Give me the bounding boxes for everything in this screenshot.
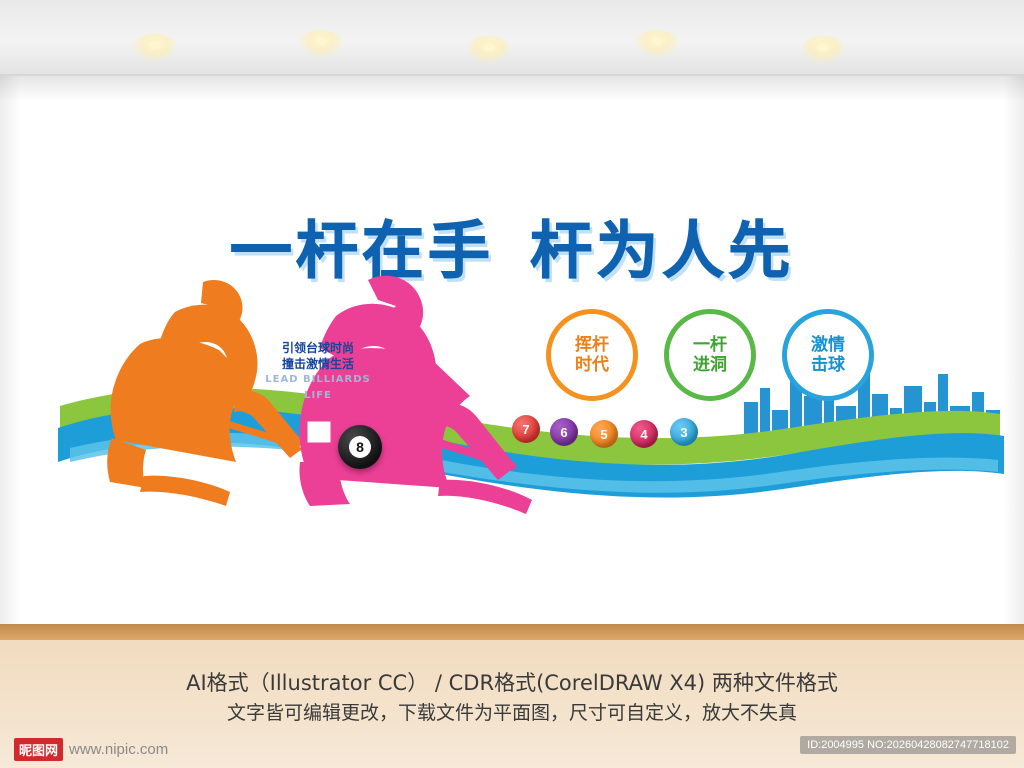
caption-line1: AI格式（Illustrator CC） / CDR格式(CorelDRAW X… — [0, 668, 1024, 698]
ceiling-light — [298, 30, 344, 58]
caption-line2: 文字皆可编辑更改，下载文件为平面图，尺寸可自定义，放大不失真 — [0, 698, 1024, 728]
badge-jiqing-jiqiu: 激情 击球 — [782, 309, 874, 401]
sub-slogan-line1: 引领台球时尚 — [258, 340, 378, 356]
pool-ball-7: 7 — [512, 415, 540, 443]
eight-ball: 8 — [338, 425, 382, 469]
pool-ball-4: 4 — [630, 420, 658, 448]
ceiling-light — [634, 30, 680, 58]
watermark: 昵图网 www.nipic.com — [14, 738, 168, 761]
poster-stage: 一杆在手 杆为人先 — [0, 0, 1024, 768]
pool-ball-6: 6 — [550, 418, 578, 446]
badge-3-line1: 激情 — [811, 335, 845, 355]
badge-yigan-jindong: 一杆 进洞 — [664, 309, 756, 401]
watermark-logo: 昵图网 — [14, 738, 63, 761]
badge-1-line2: 时代 — [575, 355, 609, 375]
sub-slogan-line3: LEAD BILLIARDS LIFE — [258, 372, 378, 404]
badge-1-line1: 挥杆 — [575, 335, 609, 355]
badge-2-line2: 进洞 — [693, 355, 727, 375]
pool-ball-5: 5 — [590, 420, 618, 448]
cue-ball-marker — [306, 420, 332, 444]
ceiling-light — [466, 36, 512, 64]
badge-3-line2: 击球 — [811, 355, 845, 375]
floor-edge — [0, 624, 1024, 640]
eight-ball-number: 8 — [349, 436, 371, 458]
badge-huigan-shidai: 挥杆 时代 — [546, 309, 638, 401]
watermark-site: www.nipic.com — [69, 741, 168, 758]
file-format-caption: AI格式（Illustrator CC） / CDR格式(CorelDRAW X… — [0, 668, 1024, 728]
sub-slogan-line2: 撞击激情生活 — [258, 356, 378, 372]
badge-2-line1: 一杆 — [693, 335, 727, 355]
pool-ball-3: 3 — [670, 418, 698, 446]
ceiling-light — [132, 34, 178, 62]
ceiling-light — [800, 36, 846, 64]
image-id-tag: ID:2004995 NO:20260428082747718102 — [800, 736, 1016, 754]
sub-slogan: 引领台球时尚 撞击激情生活 LEAD BILLIARDS LIFE — [258, 340, 378, 404]
